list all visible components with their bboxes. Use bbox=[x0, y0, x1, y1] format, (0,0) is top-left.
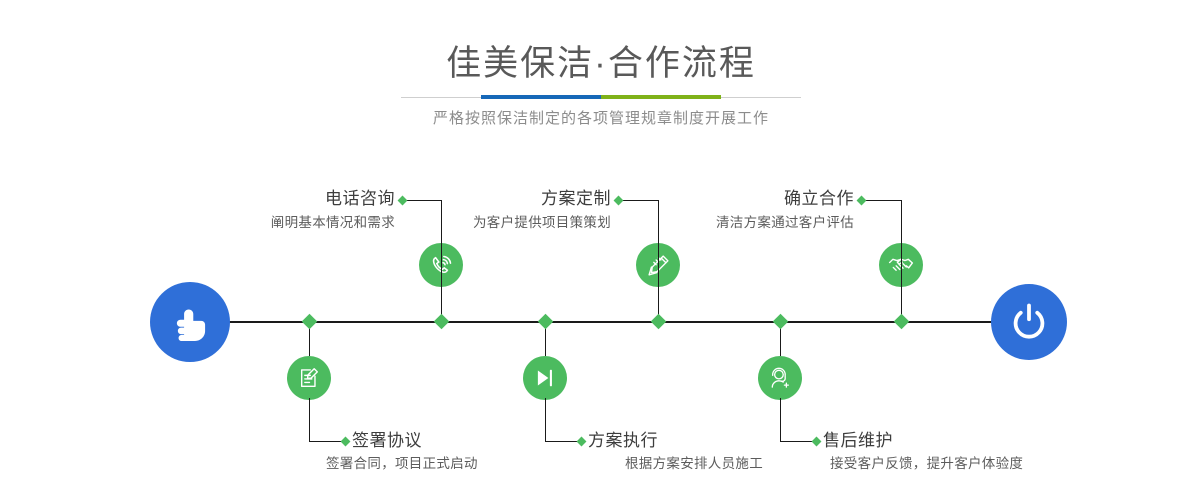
step-axis-marker-3 bbox=[651, 314, 667, 330]
page-title: 佳美保洁·合作流程 bbox=[0, 42, 1202, 86]
step-leader-tip-3 bbox=[614, 196, 624, 206]
page-subtitle: 严格按照保洁制定的各项管理规章制度开展工作 bbox=[0, 108, 1202, 130]
divider-segment-green bbox=[601, 95, 721, 99]
step-title-6: 售后维护 bbox=[823, 430, 893, 452]
step-axis-marker-5 bbox=[894, 314, 910, 330]
step-title-3: 方案定制 bbox=[420, 188, 611, 210]
step-elbow-v-4 bbox=[545, 398, 546, 442]
step-elbow-h-5 bbox=[865, 200, 902, 201]
step-leader-tip-5 bbox=[857, 196, 867, 206]
step-axis-marker-4 bbox=[538, 314, 554, 330]
step-title-1: 电话咨询 bbox=[200, 188, 395, 210]
step-axis-marker-1 bbox=[434, 314, 450, 330]
flow-diagram-page: 佳美保洁·合作流程 严格按照保洁制定的各项管理规章制度开展工作 bbox=[0, 0, 1202, 502]
step-desc-4: 根据方案安排人员施工 bbox=[625, 454, 763, 474]
step-title-2: 签署协议 bbox=[352, 430, 422, 452]
step-icon-document-sign bbox=[287, 356, 331, 400]
step-title-5: 确立合作 bbox=[660, 188, 854, 210]
title-divider bbox=[401, 95, 801, 99]
step-desc-2: 签署合同，项目正式启动 bbox=[326, 454, 478, 474]
step-elbow-v-6 bbox=[780, 398, 781, 442]
divider-segment-blue bbox=[481, 95, 601, 99]
step-icon-play-forward bbox=[523, 356, 567, 400]
timeline-end-icon bbox=[991, 284, 1067, 360]
step-leader-tip-1 bbox=[398, 196, 408, 206]
step-desc-6: 接受客户反馈，提升客户体验度 bbox=[830, 454, 1023, 474]
step-leader-tip-4 bbox=[577, 437, 587, 447]
step-elbow-h-3 bbox=[622, 200, 659, 201]
step-desc-3: 为客户提供项目策策划 bbox=[400, 213, 611, 233]
step-axis-marker-2 bbox=[302, 314, 318, 330]
step-axis-marker-6 bbox=[773, 314, 789, 330]
step-title-4: 方案执行 bbox=[588, 430, 658, 452]
step-elbow-v-2 bbox=[309, 398, 310, 442]
step-elbow-v-5 bbox=[901, 200, 902, 290]
timeline-start-icon bbox=[150, 282, 230, 362]
step-desc-1: 阐明基本情况和需求 bbox=[180, 213, 395, 233]
step-icon-support-agent bbox=[758, 356, 802, 400]
step-leader-tip-6 bbox=[812, 437, 822, 447]
step-desc-5: 清洁方案通过客户评估 bbox=[640, 213, 854, 233]
step-leader-tip-2 bbox=[341, 437, 351, 447]
